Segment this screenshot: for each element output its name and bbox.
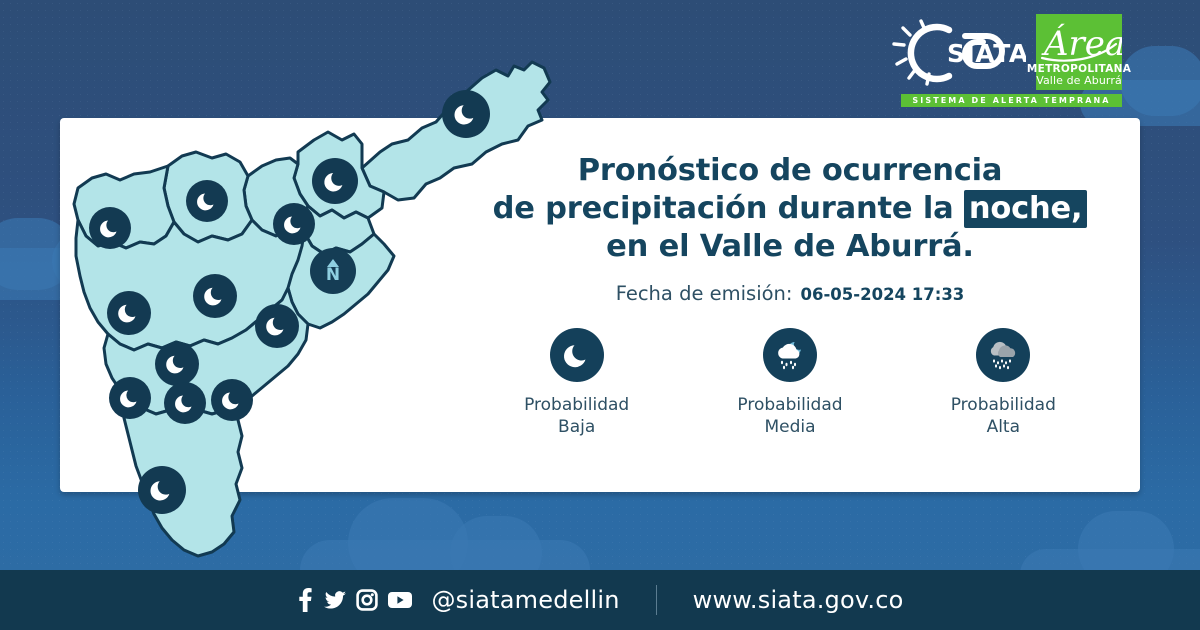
svg-text:Área: Área [1041, 23, 1122, 64]
headline-line2-prefix: de precipitación durante la [493, 191, 964, 226]
svg-text:SIATA: SIATA [947, 39, 1026, 68]
instagram-icon[interactable] [356, 589, 378, 611]
map-marker-caldas[interactable] [138, 466, 186, 514]
moon-icon [172, 390, 198, 416]
moon-icon [263, 312, 290, 339]
legend-title-alta: Probabilidad [951, 395, 1056, 415]
twitter-icon[interactable] [323, 588, 347, 612]
map-marker-medellin-c[interactable] [193, 274, 237, 318]
compass-north-icon: N [310, 248, 356, 294]
headline-line3: en el Valle de Aburrá. [606, 229, 974, 264]
compass-label: N [326, 268, 340, 283]
map-marker-envigado[interactable] [164, 382, 206, 424]
area-metropolitana-logo: Área METROPOLITANA Valle de Aburrá [1036, 14, 1122, 90]
moon-icon [451, 99, 481, 129]
footer-bar: @siatamedellin www.siata.gov.co [0, 570, 1200, 630]
youtube-icon[interactable] [387, 590, 413, 610]
logo-group: SIATA Área METROPOLITANA Valle de Aburrá [891, 14, 1122, 92]
map-marker-bello[interactable] [186, 180, 228, 222]
moon-icon [163, 350, 190, 377]
siata-logo: SIATA [891, 14, 1026, 92]
legend-item-baja: Probabilidad Baja [492, 328, 662, 438]
emission-date-label: Fecha de emisión: [616, 282, 793, 305]
map-marker-guarne[interactable] [255, 304, 299, 348]
moon-icon [97, 215, 123, 241]
headline-line1: Pronóstico de ocurrencia [578, 153, 1003, 188]
cloud-heavy-rain-icon [976, 328, 1030, 382]
website-url[interactable]: www.siata.gov.co [693, 586, 904, 614]
map-marker-san-pedro[interactable] [89, 207, 131, 249]
moon-icon [115, 299, 142, 326]
moon-icon [550, 328, 604, 382]
legend-label-alta: Probabilidad Alta [951, 394, 1056, 438]
map-marker-girardota[interactable] [312, 158, 358, 204]
area-script-mark: Área [1036, 18, 1122, 64]
legend-level-baja: Baja [558, 417, 595, 437]
legend-item-media: Probabilidad Media [705, 328, 875, 438]
moon-icon [321, 167, 350, 196]
moon-icon [194, 188, 220, 214]
map-marker-copacabana[interactable] [273, 203, 315, 245]
legend-title-baja: Probabilidad [524, 395, 629, 415]
headline-highlight: noche, [964, 190, 1088, 228]
emission-date-value: 06-05-2024 17:33 [800, 285, 964, 304]
legend-item-alta: Probabilidad Alta [918, 328, 1088, 438]
moon-cloud-rain-icon [763, 328, 817, 382]
legend-title-media: Probabilidad [737, 395, 842, 415]
legend-level-media: Media [764, 417, 815, 437]
moon-icon [281, 211, 307, 237]
moon-icon [219, 387, 245, 413]
valle-de-aburra-map: N [62, 48, 562, 568]
moon-icon [201, 282, 228, 309]
map-marker-sabaneta[interactable] [211, 379, 253, 421]
page-title: Pronóstico de ocurrencia de precipitació… [470, 152, 1110, 266]
map-marker-itagui[interactable] [155, 342, 199, 386]
map-marker-barbosa[interactable] [442, 90, 490, 138]
headline-block: Pronóstico de ocurrencia de precipitació… [470, 152, 1110, 305]
legend-label-media: Probabilidad Media [737, 394, 842, 438]
probability-legend: Probabilidad Baja Probabilidad Media [470, 328, 1110, 438]
social-icons [296, 587, 413, 613]
facebook-icon[interactable] [296, 587, 314, 613]
moon-icon [117, 385, 143, 411]
siata-tagline-text: SISTEMA DE ALERTA TEMPRANA [912, 96, 1110, 105]
legend-label-baja: Probabilidad Baja [524, 394, 629, 438]
moon-icon [147, 475, 177, 505]
legend-level-alta: Alta [987, 417, 1020, 437]
area-logo-line2: Valle de Aburrá [1036, 75, 1122, 87]
map-marker-la-estrella[interactable] [109, 377, 151, 419]
social-handle[interactable]: @siatamedellin [431, 586, 619, 614]
siata-tagline-banner: SISTEMA DE ALERTA TEMPRANA [901, 94, 1122, 107]
map-marker-medellin-n[interactable] [107, 291, 151, 335]
footer-divider [656, 585, 657, 615]
emission-date: Fecha de emisión: 06-05-2024 17:33 [470, 282, 1110, 305]
